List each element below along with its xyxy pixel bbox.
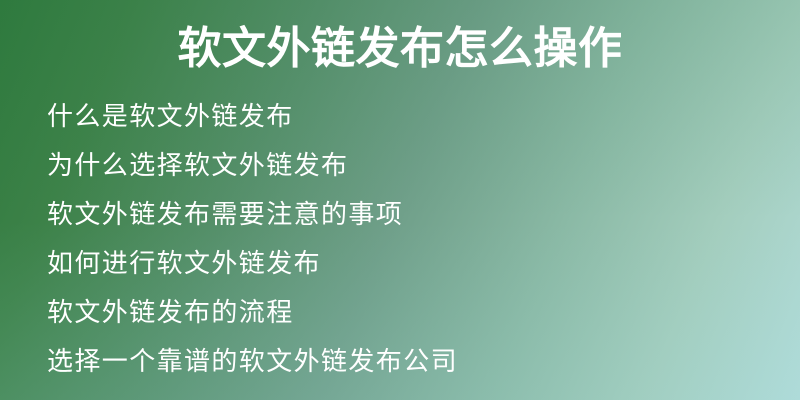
poster-content: 软文外链发布怎么操作 什么是软文外链发布 为什么选择软文外链发布 软文外链发布需… (0, 0, 800, 400)
list-item: 为什么选择软文外链发布 (47, 142, 787, 191)
poster-canvas: 软文外链发布怎么操作 什么是软文外链发布 为什么选择软文外链发布 软文外链发布需… (0, 0, 800, 400)
page-title: 软文外链发布怎么操作 (0, 22, 800, 76)
list-item: 选择一个靠谱的软文外链发布公司 (47, 338, 787, 387)
list-item: 软文外链发布需要注意的事项 (47, 191, 787, 240)
list-item: 如何进行软文外链发布 (47, 240, 787, 289)
topic-list: 什么是软文外链发布 为什么选择软文外链发布 软文外链发布需要注意的事项 如何进行… (47, 93, 787, 387)
list-item: 软文外链发布的流程 (47, 289, 787, 338)
list-item: 什么是软文外链发布 (47, 93, 787, 142)
